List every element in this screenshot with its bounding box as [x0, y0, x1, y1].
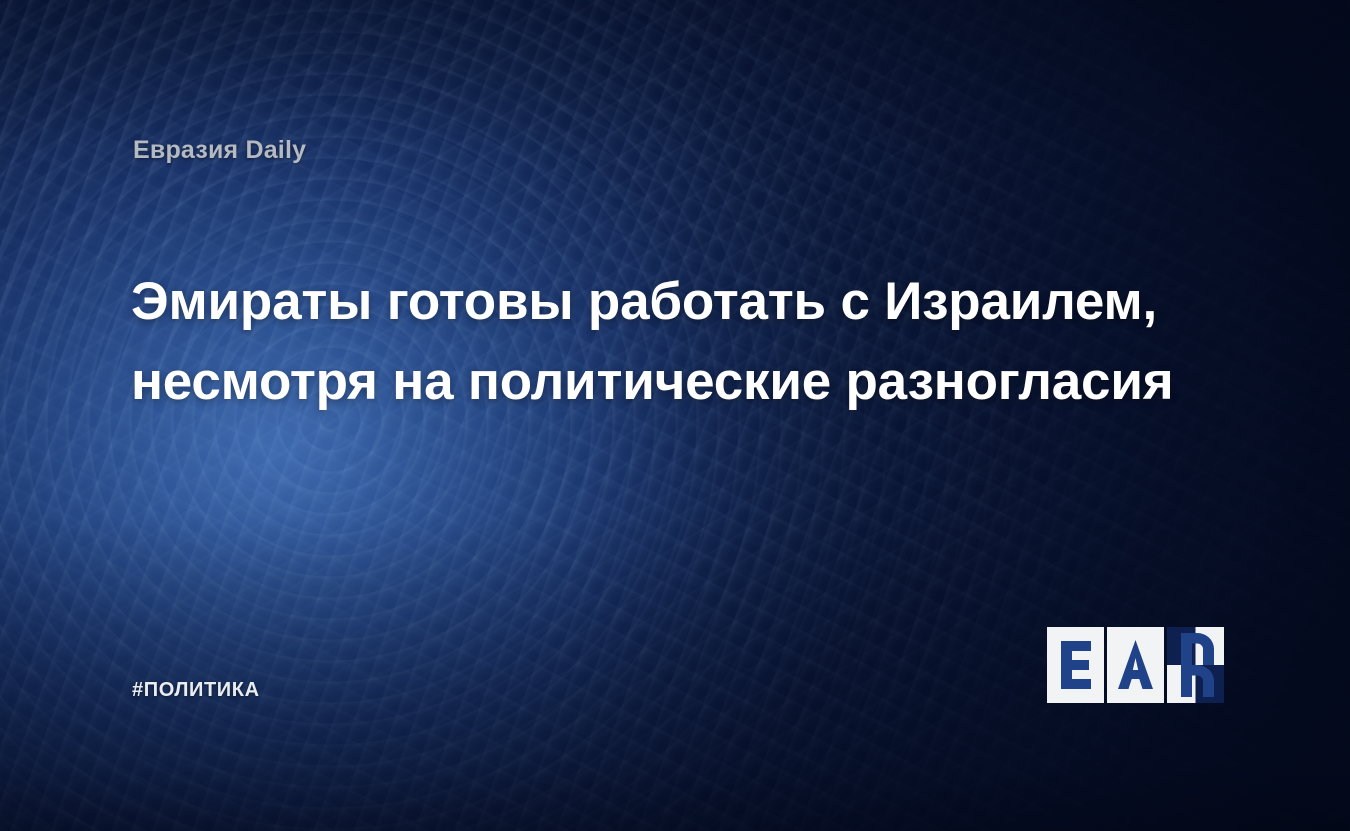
brand-name: Евразия Daily — [133, 136, 306, 165]
headline-line-2: несмотря на политические разногласия — [131, 342, 1231, 422]
ead-logo[interactable] — [1047, 627, 1224, 703]
news-card: Евразия Daily Эмираты готовы работать с … — [0, 0, 1350, 831]
logo-letter-a-icon — [1107, 627, 1164, 703]
headline-line-1: Эмираты готовы работать с Израилем, — [131, 262, 1231, 342]
category-hashtag[interactable]: #ПОЛИТИКА — [132, 679, 260, 702]
logo-letter-e-icon — [1047, 627, 1104, 703]
logo-tile-a — [1107, 627, 1164, 703]
logo-tile-d — [1167, 627, 1224, 703]
logo-letter-d-icon — [1167, 627, 1224, 703]
logo-tile-e — [1047, 627, 1104, 703]
card-content: Евразия Daily Эмираты готовы работать с … — [0, 0, 1350, 831]
headline: Эмираты готовы работать с Израилем, несм… — [131, 262, 1231, 422]
